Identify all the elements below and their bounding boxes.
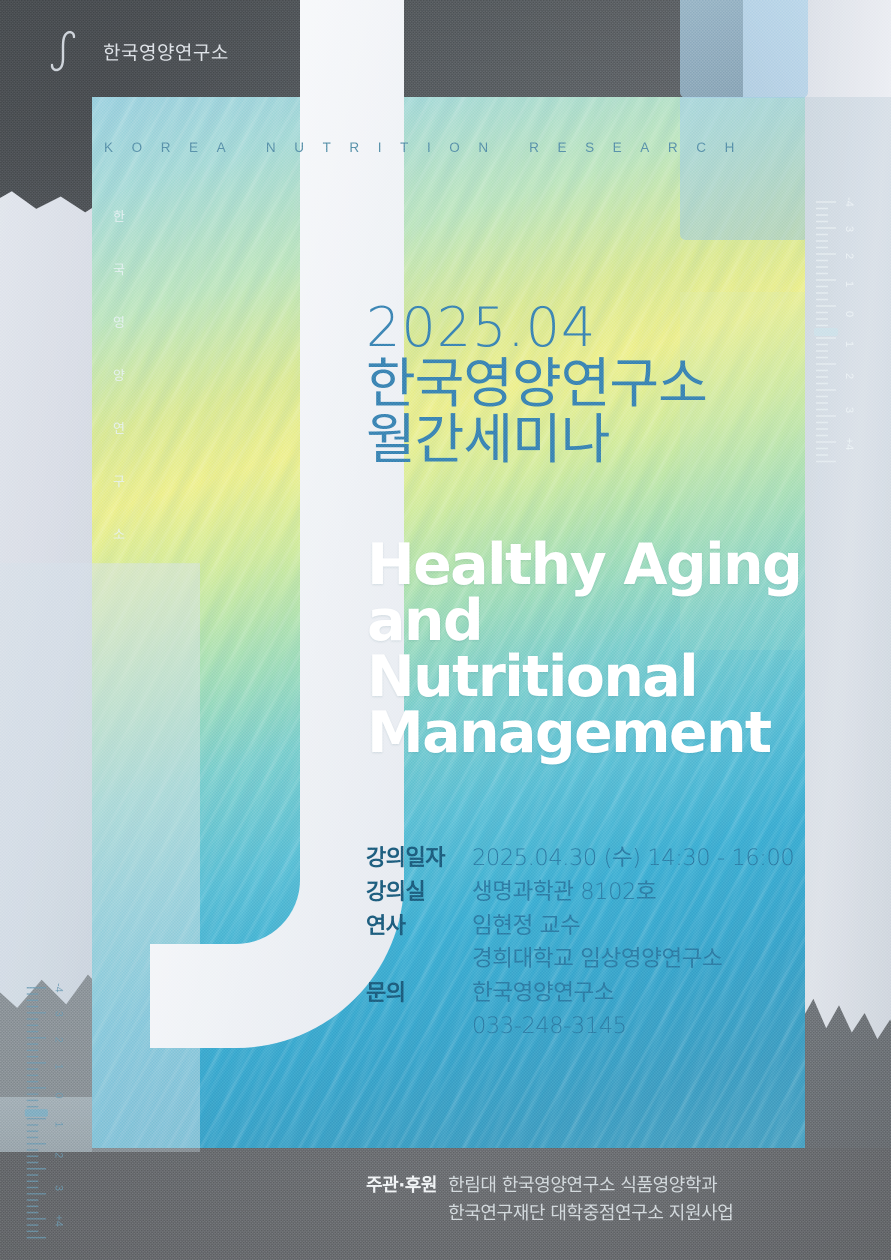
sponsor-line: 한림대 한국영양연구소 식품영양학과 (448, 1172, 733, 1200)
detail-row-date: 강의일자 2025.04.30 (수) 14:30 - 16:00 (366, 842, 786, 875)
korean-title-line2: 한국영양연구소 (366, 356, 796, 412)
vertical-char: 국 (113, 259, 125, 278)
integral-mark-icon (47, 28, 85, 74)
tracking-headline: KOREA NUTRITION RESEARCH (104, 140, 804, 155)
detail-values: 생명과학관 8102호 (472, 876, 656, 909)
vertical-char: 구 (113, 471, 125, 490)
vertical-char: 연 (113, 418, 125, 437)
detail-value: 경희대학교 임상영양연구소 (472, 943, 722, 976)
detail-row-contact: 문의 한국영양연구소 033-248-3145 (366, 977, 786, 1043)
sponsor-footer: 주관·후원 한림대 한국영양연구소 식품영양학과 한국연구재단 대학중점연구소 … (366, 1172, 733, 1228)
detail-row-room: 강의실 생명과학관 8102호 (366, 876, 786, 909)
vertical-char: 영 (113, 312, 125, 331)
korean-title-line3: 월간세미나 (366, 412, 796, 468)
korean-title: 2025.04 한국영양연구소 월간세미나 (366, 300, 796, 468)
english-title: Healthy Aging and Nutritional Management (367, 538, 797, 761)
sponsor-lines: 한림대 한국영양연구소 식품영양학과 한국연구재단 대학중점연구소 지원사업 (448, 1172, 733, 1228)
detail-row-speaker: 연사 임현정 교수 경희대학교 임상영양연구소 (366, 910, 786, 976)
english-title-line2: and (367, 594, 797, 650)
vertical-char: 양 (113, 365, 125, 384)
header-org-name: 한국영양연구소 (103, 38, 229, 65)
seminar-details: 강의일자 2025.04.30 (수) 14:30 - 16:00 강의실 생명… (366, 842, 786, 1044)
vertical-org-name: 한 국 영 양 연 구 소 (113, 206, 125, 543)
detail-label: 강의일자 (366, 842, 472, 875)
detail-value: 생명과학관 8102호 (472, 876, 656, 909)
detail-label: 강의실 (366, 876, 472, 909)
detail-values: 2025.04.30 (수) 14:30 - 16:00 (472, 842, 794, 875)
poster-canvas: 한국영양연구소 KOREA NUTRITION RESEARCH 한 국 영 양… (0, 0, 891, 1260)
english-title-line4: Management (367, 706, 797, 762)
english-title-line1: Healthy Aging (367, 538, 797, 594)
header: 한국영양연구소 (47, 28, 229, 74)
detail-label: 문의 (366, 977, 472, 1010)
english-title-line3: Nutritional (367, 650, 797, 706)
sponsor-label: 주관·후원 (366, 1172, 437, 1200)
detail-value: 2025.04.30 (수) 14:30 - 16:00 (472, 842, 794, 875)
detail-value: 임현정 교수 (472, 910, 722, 943)
detail-values: 한국영양연구소 033-248-3145 (472, 977, 627, 1043)
vertical-char: 한 (113, 206, 125, 225)
vertical-char: 소 (113, 524, 125, 543)
detail-value: 한국영양연구소 (472, 977, 627, 1010)
korean-title-line1: 2025.04 (366, 300, 796, 356)
sponsor-line: 한국연구재단 대학중점연구소 지원사업 (448, 1200, 733, 1228)
detail-values: 임현정 교수 경희대학교 임상영양연구소 (472, 910, 722, 976)
detail-label: 연사 (366, 910, 472, 943)
detail-value: 033-248-3145 (472, 1010, 627, 1043)
